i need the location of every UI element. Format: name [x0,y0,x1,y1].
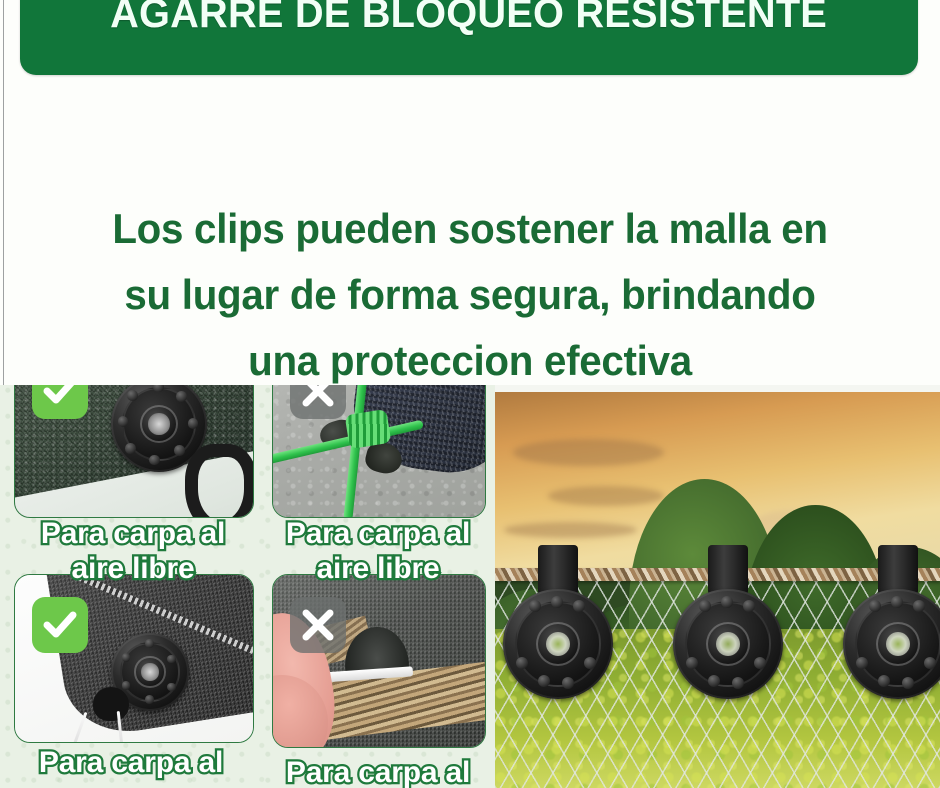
headline-line-2: su lugar de forma segura, brindando [26,262,913,328]
cross-icon [299,606,337,644]
clip-hook-icon [185,444,231,508]
image-strip [0,385,940,788]
badge-cross-cell-4 [290,597,346,653]
badge-check-cell-3 [32,597,88,653]
hanging-clip-3 [843,589,940,699]
cloud-shape-2 [548,486,664,506]
comparison-grid [0,385,495,788]
clip-collar-icon [93,687,129,721]
cell-caption-1: Para carpa al aire libre [10,516,256,586]
hanging-clip-2 [673,589,783,699]
headline-text: Los clips pueden sostener la malla en su… [8,196,932,394]
badge-cross-cell-2 [290,385,346,419]
headline-line-1: Los clips pueden sostener la malla en [26,196,913,262]
left-edge-rule [3,0,4,390]
badge-check-cell-1 [32,385,88,419]
photo-top-seam [495,385,940,392]
check-icon [40,385,80,411]
cross-icon [299,385,337,410]
banner-title: AGARRE DE BLOQUEO RESISTENTE [111,0,828,37]
header-banner: AGARRE DE BLOQUEO RESISTENTE [20,0,918,75]
hanging-clip-1 [503,589,613,699]
green-rope-knot [345,409,392,449]
hero-photo [495,391,940,788]
cell-caption-3: Para carpa al [8,745,254,780]
cell-caption-4: Para carpa al [268,755,488,788]
product-marketing-image: AGARRE DE BLOQUEO RESISTENTE Los clips p… [0,0,940,788]
check-icon [40,605,80,645]
cell-caption-2: Para carpa al aire libre [268,516,488,586]
cloud-shape-1 [513,439,664,467]
